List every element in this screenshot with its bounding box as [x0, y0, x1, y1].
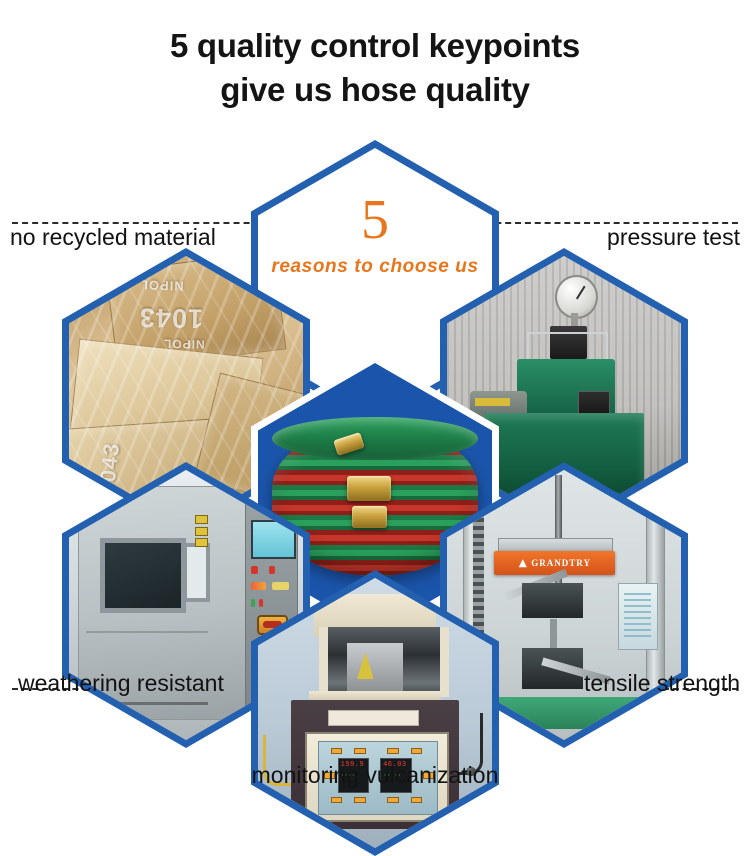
warning-label-1: [195, 515, 207, 524]
indicator-red-3: [259, 599, 263, 607]
panel-button-6: [354, 797, 365, 803]
panel-button-4: [411, 748, 422, 754]
chamber-display: [251, 520, 296, 559]
brass-fitting-main: [347, 476, 391, 500]
caption-weathering-resistant: weathering resistant: [18, 672, 224, 695]
warning-label-2: [195, 527, 207, 536]
indicator-green: [251, 599, 255, 607]
tester-grip-upper: [522, 583, 583, 618]
indicator-red-2: [269, 566, 276, 574]
reasons-number: 5: [258, 192, 492, 248]
panel-button-8: [411, 797, 422, 803]
panel-button-3: [387, 748, 398, 754]
caption-pressure-test: pressure test: [607, 226, 740, 249]
panel-button-5: [331, 797, 342, 803]
indicator-orange: [251, 582, 266, 590]
caption-tensile-strength: tensile strength: [584, 672, 740, 695]
machine-brand-text: GRANDTRY: [531, 558, 591, 568]
indicator-yellow: [272, 582, 289, 590]
machine-brand-banner: GRANDTRY: [494, 551, 616, 575]
chamber-small-window: [183, 543, 210, 602]
caption-monitoring-vulcanization: monitoring vulcanization: [0, 764, 750, 787]
panel-button-1: [331, 748, 342, 754]
warning-label-3: [195, 538, 207, 547]
panel-button-7: [387, 797, 398, 803]
brass-fitting-second: [352, 506, 387, 528]
chamber-seam-1: [86, 631, 207, 633]
hex-monitoring-vulcanization-inner: 159.9 ····· 46.03 ·····: [258, 578, 492, 848]
panel-button-2: [354, 748, 365, 754]
hose-coil-top: [272, 417, 478, 460]
reasons-caption: reasons to choose us: [258, 256, 492, 278]
wall-chart: [618, 583, 657, 650]
cabinet-foot-right: [431, 837, 447, 845]
brand-logo-icon: [518, 559, 527, 568]
caption-no-recycled-material: no recycled material: [10, 226, 216, 249]
rheometer-nameplate: [328, 710, 419, 726]
chamber-window: [100, 538, 186, 613]
image-rheometer: 159.9 ····· 46.03 ·····: [258, 578, 492, 848]
rheometer-die-core: [347, 643, 403, 692]
pump-crossbar: [527, 332, 607, 334]
cabinet-foot-left: [300, 837, 316, 845]
indicator-red-1: [251, 566, 258, 574]
chamber-seam-2: [86, 702, 207, 705]
